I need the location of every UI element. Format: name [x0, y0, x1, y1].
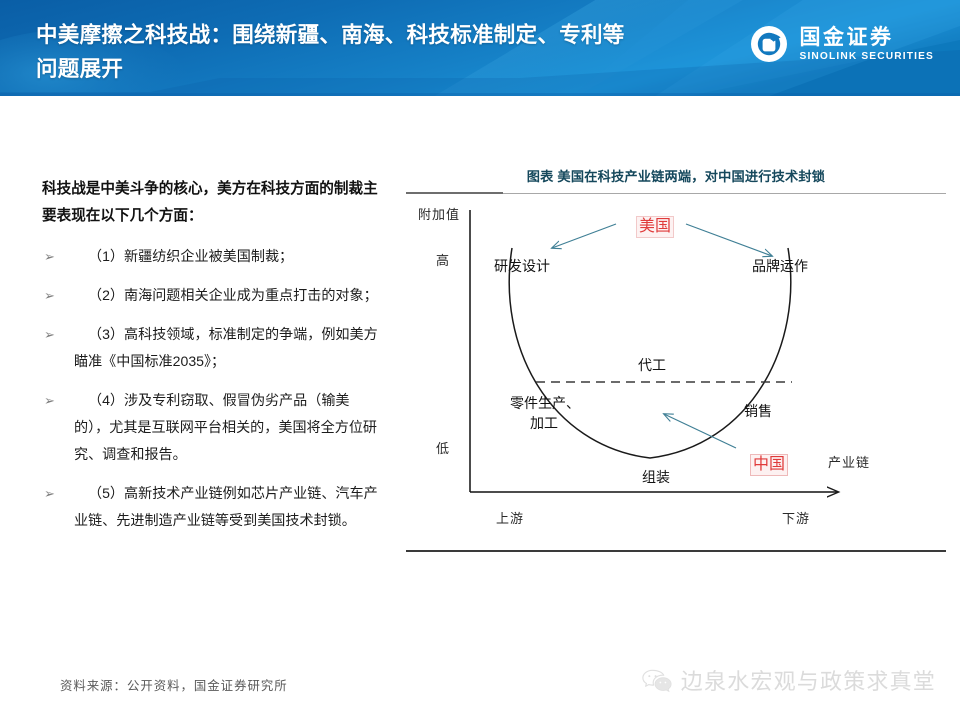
- arrow-us-to-brand: [686, 224, 772, 256]
- chart-top-divider: [406, 192, 946, 194]
- stage-label-oem: 代工: [638, 356, 666, 374]
- annotation-united-states: 美国: [636, 216, 674, 238]
- x-tick-upstream: 上游: [496, 508, 524, 527]
- list-item-text: （1）新疆纺织企业被美国制裁；: [74, 243, 382, 270]
- x-tick-downstream: 下游: [782, 508, 810, 527]
- annotation-china: 中国: [750, 454, 788, 476]
- brand-name-en: SINOLINK SECURITIES: [800, 50, 935, 63]
- brand-logo: 国金证券 SINOLINK SECURITIES: [749, 24, 935, 64]
- stage-label-brand: 品牌运作: [752, 257, 808, 275]
- y-axis-title: 附加值: [418, 204, 460, 223]
- list-item: ➢ （2）南海问题相关企业成为重点打击的对象；: [42, 282, 382, 309]
- divider-segment-dark: [406, 192, 503, 194]
- source-note: 资料来源：公开资料，国金证券研究所: [60, 676, 288, 694]
- y-tick-high: 高: [436, 250, 450, 269]
- chart-bottom-divider: [406, 550, 946, 552]
- stage-label-sales: 销售: [744, 402, 772, 420]
- list-item: ➢ （4）涉及专利窃取、假冒伪劣产品（输美的），尤其是互联网平台相关的，美国将全…: [42, 387, 382, 468]
- list-item: ➢ （3）高科技领域，标准制定的争端，例如美方瞄准《中国标准2035》；: [42, 321, 382, 375]
- lead-paragraph: 科技战是中美斗争的核心，美方在科技方面的制裁主要表现在以下几个方面：: [42, 176, 382, 230]
- arrow-us-to-rd: [552, 224, 616, 248]
- sinolink-logo-icon: [749, 24, 789, 64]
- list-item: ➢ （5）高新技术产业链例如芯片产业链、汽车产业链、先进制造产业链等受到美国技术…: [42, 480, 382, 534]
- stage-label-rd: 研发设计: [494, 257, 550, 275]
- list-item-text: （2）南海问题相关企业成为重点打击的对象；: [74, 282, 382, 309]
- divider-segment-light: [503, 193, 946, 194]
- bullet-arrow-icon: ➢: [42, 321, 74, 348]
- list-item-text: （4）涉及专利窃取、假冒伪劣产品（输美的），尤其是互联网平台相关的，美国将全方位…: [74, 387, 382, 468]
- stage-label-parts-line1: 零件生产、: [510, 394, 580, 412]
- wechat-watermark: 边泉水宏观与政策求真堂: [642, 664, 936, 696]
- chart-panel: 图表 美国在科技产业链两端，对中国进行技术封锁 附加值 高 低 上游 下: [400, 166, 952, 558]
- y-tick-low: 低: [436, 438, 450, 457]
- chart-title: 图表 美国在科技产业链两端，对中国进行技术封锁: [400, 166, 952, 185]
- stage-label-assembly: 组装: [642, 468, 670, 486]
- content-text-column: 科技战是中美斗争的核心，美方在科技方面的制裁主要表现在以下几个方面： ➢ （1）…: [42, 176, 382, 546]
- smile-curve-figure: [400, 196, 952, 536]
- list-item-text: （3）高科技领域，标准制定的争端，例如美方瞄准《中国标准2035》；: [74, 321, 382, 375]
- bullet-arrow-icon: ➢: [42, 243, 74, 270]
- list-item-text: （5）高新技术产业链例如芯片产业链、汽车产业链、先进制造产业链等受到美国技术封锁…: [74, 480, 382, 534]
- wechat-icon: [642, 667, 672, 693]
- bullet-arrow-icon: ➢: [42, 282, 74, 309]
- bullet-arrow-icon: ➢: [42, 480, 74, 507]
- watermark-text: 边泉水宏观与政策求真堂: [681, 664, 936, 696]
- list-item: ➢ （1）新疆纺织企业被美国制裁；: [42, 243, 382, 270]
- page-title: 中美摩擦之科技战：围绕新疆、南海、科技标准制定、专利等 问题展开: [36, 18, 736, 86]
- stage-label-parts-line2: 加工: [530, 414, 558, 432]
- brand-text-block: 国金证券 SINOLINK SECURITIES: [800, 26, 935, 63]
- bullet-arrow-icon: ➢: [42, 387, 74, 414]
- page-header: 中美摩擦之科技战：围绕新疆、南海、科技标准制定、专利等 问题展开 国金证券 SI…: [0, 0, 960, 96]
- brand-name-cn: 国金证券: [800, 26, 935, 49]
- x-axis-title: 产业链: [828, 452, 870, 471]
